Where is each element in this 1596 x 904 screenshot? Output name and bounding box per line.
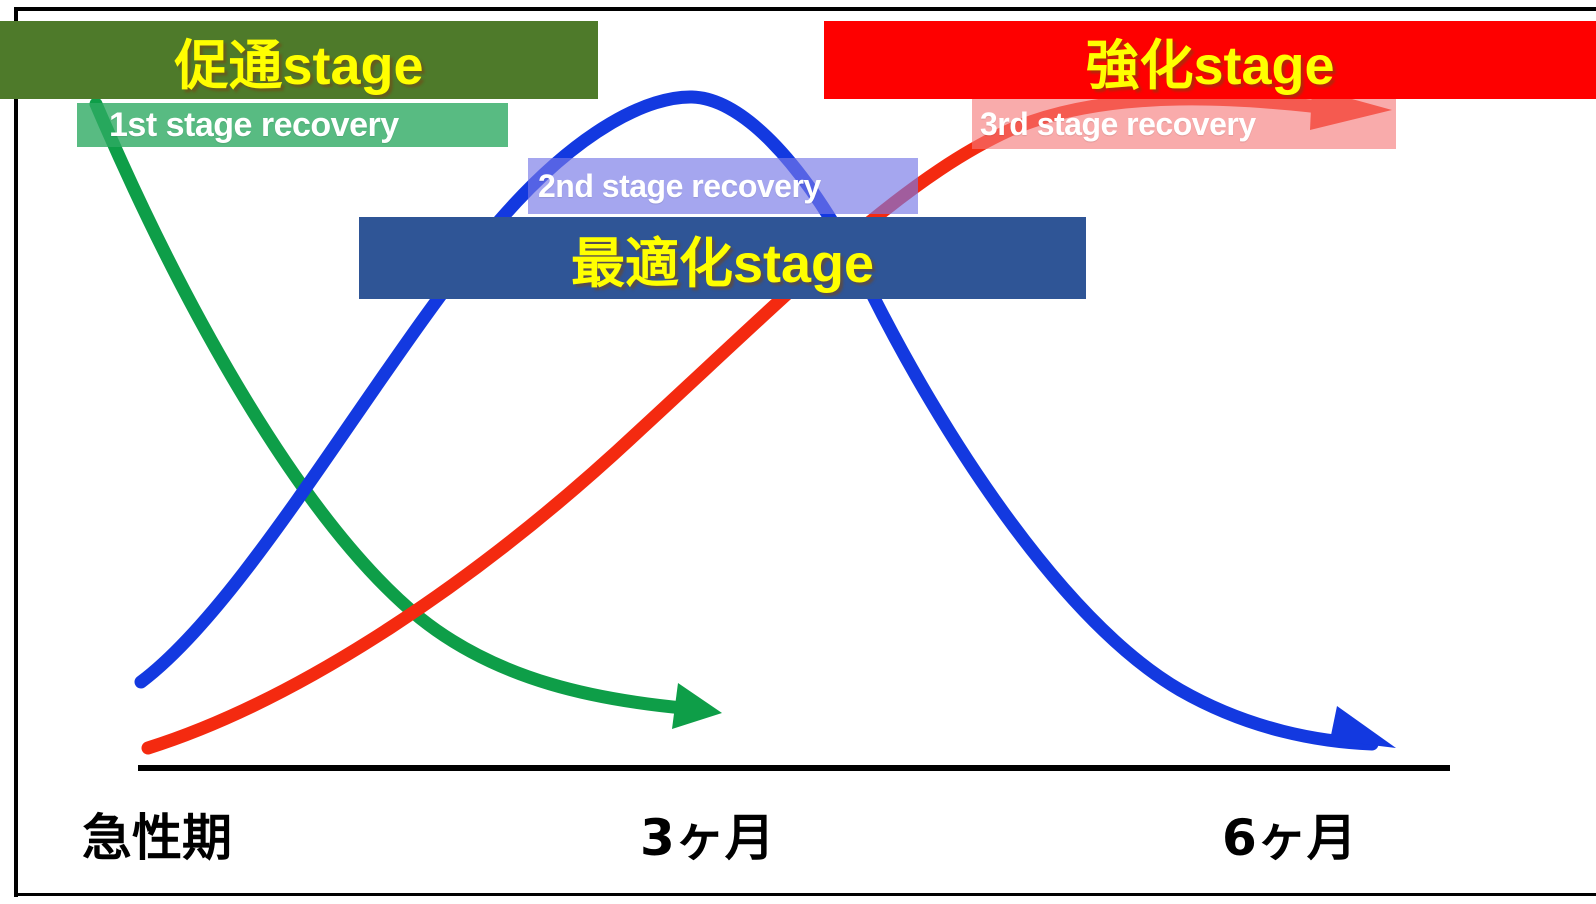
- curve-label-third-stage-recovery-text: 3rd stage recovery: [980, 106, 1256, 143]
- curve-first-stage-recovery-arrowhead: [672, 683, 722, 729]
- x-axis-tick-3-months: 3ヶ月: [640, 798, 775, 870]
- curve-label-first-stage-recovery-text: 1st stage recovery: [109, 106, 399, 145]
- curve-label-third-stage-recovery: 3rd stage recovery: [972, 99, 1396, 149]
- curve-label-second-stage-recovery-text: 2nd stage recovery: [538, 168, 821, 205]
- stage-banner-strengthening-text: 強化stage: [1085, 21, 1334, 100]
- curve-label-first-stage-recovery: 1st stage recovery: [77, 103, 508, 147]
- x-axis-tick-6-months: 6ヶ月: [1222, 798, 1357, 870]
- stage-banner-facilitation: 促通stage: [0, 21, 598, 99]
- stage-banner-optimization-text: 最適化stage: [571, 219, 874, 298]
- stage-banner-strengthening: 強化stage: [824, 21, 1596, 99]
- x-axis-baseline: [138, 765, 1450, 771]
- curve-label-second-stage-recovery: 2nd stage recovery: [528, 158, 918, 214]
- x-axis-tick-acute-phase: 急性期: [82, 798, 232, 870]
- slide-canvas: 1st stage recovery 2nd stage recovery 3r…: [0, 0, 1596, 904]
- stage-banner-facilitation-text: 促通stage: [174, 21, 423, 100]
- stage-banner-optimization: 最適化stage: [359, 217, 1086, 299]
